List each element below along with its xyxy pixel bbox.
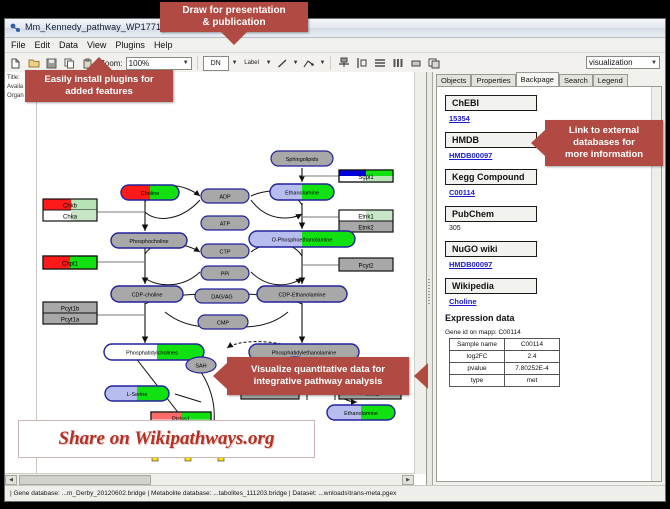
toolbar-separator [330,56,331,70]
svg-text:O-Phosphoethanolamine: O-Phosphoethanolamine [272,238,333,244]
table-row: type met [450,375,560,387]
datanode-label: DN [211,60,221,67]
plugins-callout-arrow [86,57,112,70]
svg-text:Phosphocholine: Phosphocholine [129,239,168,245]
datanode-tool[interactable]: DN [203,56,229,71]
svg-text:Phosphatidylcholines: Phosphatidylcholines [126,351,178,357]
cell-value: met [505,375,560,387]
chevron-down-icon[interactable]: ▼ [293,60,299,66]
svg-text:Sphingolipids: Sphingolipids [286,157,319,163]
section-header-chebi: ChEBI [445,95,537,111]
title-bar: Mm_Kennedy_pathway_WP1771_45176.gpml [5,19,665,38]
table-row: log2FC 2.4 [450,351,560,363]
svg-text:Choline: Choline [141,191,160,197]
draw-callout: Draw for presentation & publication [160,2,308,32]
external-db-callout: Link to external databases for more info… [545,120,663,166]
share-callout-text: Share on Wikipathways.org [59,428,275,450]
status-text: | Gene database: ...m_Derby_20120602.bri… [5,490,396,497]
svg-text:SAH: SAH [195,364,206,370]
svg-text:CTP: CTP [220,250,231,256]
svg-text:ADP: ADP [219,195,231,201]
chevron-down-icon[interactable]: ▼ [232,60,238,66]
pubchem-value: 305 [449,225,652,232]
visualize-callout-arrow [213,363,227,389]
nugo-link[interactable]: HMDB00097 [449,260,652,269]
section-header-wikipedia: Wikipedia [445,278,537,294]
order-icon[interactable] [426,56,441,71]
section-header-pubchem: PubChem [445,206,537,222]
stack-icon[interactable] [372,56,387,71]
plugins-callout-text: Easily install plugins for added feature… [44,74,153,98]
visualize-callout: Visualize quantitative data for integrat… [227,357,409,395]
section-header-kegg: Kegg Compound [445,169,537,185]
svg-text:Pcyt1b: Pcyt1b [61,307,80,313]
draw-callout-text: Draw for presentation & publication [182,5,285,29]
menu-item-plugins[interactable]: Plugins [115,40,145,50]
status-bar: | Gene database: ...m_Derby_20120602.bri… [5,485,665,501]
section-header-hmdb: HMDB [445,132,537,148]
interaction-icon[interactable] [302,56,317,71]
expression-callout-arrow [414,363,428,389]
cell-label: log2FC [450,351,505,363]
scroll-right-icon[interactable]: ▶ [402,475,414,485]
svg-text:Chkb: Chkb [63,204,78,210]
visualize-callout-text: Visualize quantitative data for integrat… [251,364,385,388]
screenshot-root: Mm_Kennedy_pathway_WP1771_45176.gpml Fil… [0,0,670,509]
menu-item-help[interactable]: Help [154,40,173,50]
wikipedia-link[interactable]: Choline [449,297,652,306]
menu-bar: File Edit Data View Plugins Help [5,38,665,53]
cell-value: 7.80252E-4 [505,363,560,375]
open-folder-icon[interactable] [26,56,41,71]
toolbar-separator [197,56,198,70]
line-icon[interactable] [275,56,290,71]
svg-text:CDP-Ethanolamine: CDP-Ethanolamine [278,293,325,299]
svg-text:CDP-choline: CDP-choline [132,293,163,299]
svg-text:Chka: Chka [63,215,78,221]
canvas-vertical-scrollbar[interactable] [414,72,426,474]
svg-text:ATP: ATP [220,222,231,228]
app-icon [9,22,21,34]
chevron-down-icon: ▼ [651,60,657,66]
cell-label: type [450,375,505,387]
align-top-icon[interactable] [336,56,351,71]
zoom-value: 100% [129,59,149,68]
svg-text:Etnk2: Etnk2 [358,226,374,232]
expression-table: Sample name C00114 log2FC 2.4 pvalue 7.8… [449,338,560,387]
svg-text:Pcyt2: Pcyt2 [358,264,374,270]
align-left-icon[interactable] [354,56,369,71]
canvas-horizontal-scrollbar[interactable]: ◀ ▶ [5,473,414,485]
table-row: Sample name C00114 [450,339,560,351]
tab-backpage[interactable]: Backpage [516,72,559,87]
svg-text:Etnk1: Etnk1 [358,215,374,221]
cell-label: Sample name [450,339,505,351]
draw-callout-arrow [221,32,247,45]
cell-value: C00114 [505,339,560,351]
new-file-icon[interactable] [8,56,23,71]
svg-text:Ethanolamine: Ethanolamine [285,191,319,197]
table-row: pvalue 7.80252E-4 [450,363,560,375]
kegg-link[interactable]: C00114 [449,188,652,197]
svg-text:Sgpl1: Sgpl1 [358,175,374,181]
plugins-callout: Easily install plugins for added feature… [25,70,173,102]
visualization-select[interactable]: visualization ▼ [586,56,660,69]
svg-text:DAG/AG: DAG/AG [211,295,232,301]
save-icon[interactable] [44,56,59,71]
gene-id-on-mapp: Gene id on mapp: C00114 [445,329,652,336]
copy-icon[interactable] [62,56,77,71]
menu-item-file[interactable]: File [11,40,26,50]
label-tool[interactable]: Label [241,56,263,71]
svg-text:Ethanolamine: Ethanolamine [344,411,378,417]
chevron-down-icon[interactable]: ▼ [266,60,272,66]
expression-data-heading: Expression data [445,313,652,323]
svg-text:L-Serine: L-Serine [127,392,148,398]
svg-text:Phosphatidylethanolamine: Phosphatidylethanolamine [272,351,337,357]
scroll-thumb[interactable] [19,475,151,485]
scroll-left-icon[interactable]: ◀ [5,475,17,485]
visualization-value: visualization [589,58,633,67]
share-callout: Share on Wikipathways.org [18,420,315,458]
zoom-select[interactable]: 100% ▼ [126,57,192,70]
size-icon[interactable] [408,56,423,71]
external-db-callout-text: Link to external databases for more info… [565,125,643,161]
svg-text:Pcyt1a: Pcyt1a [61,318,80,324]
label-tool-label: Label [244,60,259,66]
chevron-down-icon: ▼ [183,60,189,66]
section-header-nugo: NuGO wiki [445,241,537,257]
external-db-callout-arrow [531,130,545,156]
distribute-icon[interactable] [390,56,405,71]
svg-text:CMP: CMP [217,321,230,327]
menu-item-edit[interactable]: Edit [35,40,51,50]
menu-item-view[interactable]: View [87,40,106,50]
cell-value: 2.4 [505,351,560,363]
svg-text:Chpt1: Chpt1 [62,262,79,268]
menu-item-data[interactable]: Data [59,40,78,50]
chevron-down-icon[interactable]: ▼ [320,60,326,66]
svg-text:PPi: PPi [221,272,230,278]
cell-label: pvalue [450,363,505,375]
